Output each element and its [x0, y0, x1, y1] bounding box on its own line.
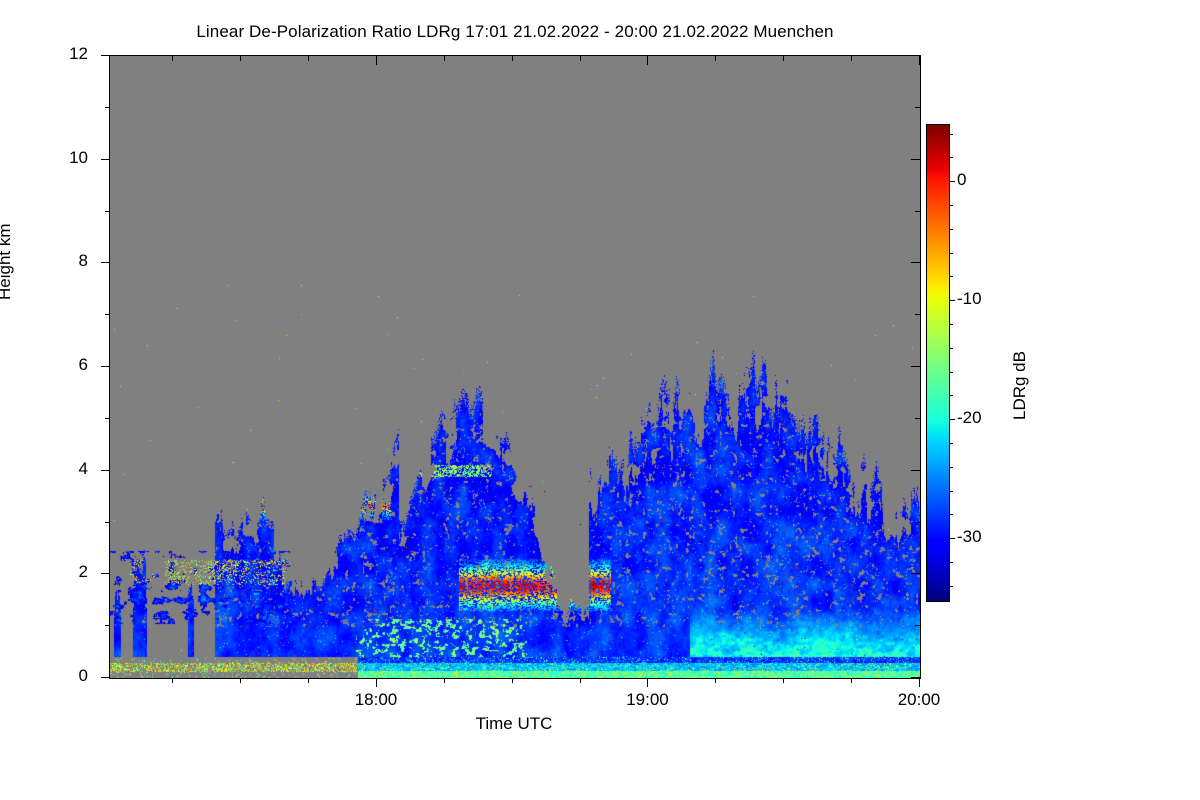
x-tick-major: [919, 678, 920, 687]
colorbar-tick-label: -20: [957, 408, 982, 428]
colorbar-tick-major: [949, 538, 955, 539]
y-tick-major: [101, 262, 110, 263]
y-tick-major-right: [911, 366, 920, 367]
colorbar-tick-minor: [949, 324, 953, 325]
colorbar-title: LDRg dB: [1010, 351, 1030, 420]
colorbar-tick-major: [949, 300, 955, 301]
y-tick-major-right: [911, 470, 920, 471]
y-tick-major: [101, 159, 110, 160]
x-tick-minor: [851, 678, 852, 683]
y-tick-label: 4: [28, 459, 88, 479]
y-tick-major-right: [911, 159, 920, 160]
x-tick-minor-top: [580, 56, 581, 61]
colorbar: [926, 124, 950, 602]
x-tick-label: 19:00: [587, 690, 707, 710]
x-tick-major-top: [647, 56, 648, 65]
colorbar-tick-label: -30: [957, 527, 982, 547]
x-tick-minor-top: [783, 56, 784, 61]
x-tick-major: [376, 678, 377, 687]
y-tick-minor-right: [915, 107, 920, 108]
x-tick-minor: [172, 678, 173, 683]
x-tick-minor-top: [851, 56, 852, 61]
colorbar-tick-minor: [949, 348, 953, 349]
colorbar-tick-minor: [949, 467, 953, 468]
x-tick-minor: [444, 678, 445, 683]
y-tick-major: [101, 573, 110, 574]
y-tick-label: 12: [28, 44, 88, 64]
y-axis-title: Height km: [0, 223, 15, 300]
y-tick-major: [101, 677, 110, 678]
x-tick-minor: [715, 678, 716, 683]
colorbar-tick-label: 0: [957, 170, 966, 190]
figure-root: Linear De-Polarization Ratio LDRg 17:01 …: [0, 0, 1200, 800]
y-tick-major: [101, 470, 110, 471]
y-tick-minor: [105, 107, 110, 108]
colorbar-tick-minor: [949, 276, 953, 277]
colorbar-tick-minor: [949, 443, 953, 444]
x-axis-title: Time UTC: [109, 714, 919, 734]
heatmap-canvas: [110, 56, 920, 678]
colorbar-tick-minor: [949, 562, 953, 563]
colorbar-tick-minor: [949, 157, 953, 158]
colorbar-tick-minor: [949, 229, 953, 230]
y-tick-minor: [105, 211, 110, 212]
y-tick-minor-right: [915, 314, 920, 315]
y-tick-label: 8: [28, 251, 88, 271]
y-tick-label: 10: [28, 148, 88, 168]
colorbar-gradient: [927, 125, 949, 601]
x-tick-minor-top: [512, 56, 513, 61]
colorbar-tick-major: [949, 181, 955, 182]
colorbar-tick-label: -10: [957, 289, 982, 309]
x-tick-minor: [308, 678, 309, 683]
colorbar-tick-minor: [949, 205, 953, 206]
y-tick-label: 2: [28, 562, 88, 582]
colorbar-tick-minor: [949, 514, 953, 515]
x-tick-minor-top: [308, 56, 309, 61]
y-tick-label: 0: [28, 666, 88, 686]
colorbar-tick-minor: [949, 586, 953, 587]
x-tick-label: 18:00: [316, 690, 436, 710]
x-tick-minor-top: [172, 56, 173, 61]
colorbar-tick-minor: [949, 395, 953, 396]
x-tick-minor: [580, 678, 581, 683]
figure-title: Linear De-Polarization Ratio LDRg 17:01 …: [0, 22, 1030, 42]
y-tick-major-right: [911, 262, 920, 263]
y-tick-major: [101, 55, 110, 56]
y-tick-minor-right: [915, 418, 920, 419]
y-tick-minor: [105, 314, 110, 315]
x-tick-minor: [240, 678, 241, 683]
colorbar-tick-minor: [949, 134, 953, 135]
x-tick-minor: [512, 678, 513, 683]
colorbar-tick-minor: [949, 372, 953, 373]
x-tick-minor-top: [240, 56, 241, 61]
y-tick-label: 6: [28, 355, 88, 375]
x-tick-major-top: [376, 56, 377, 65]
x-tick-minor-top: [715, 56, 716, 61]
y-tick-minor-right: [915, 625, 920, 626]
x-tick-label: 20:00: [859, 690, 979, 710]
colorbar-tick-major: [949, 419, 955, 420]
y-tick-major-right: [911, 573, 920, 574]
colorbar-tick-minor: [949, 253, 953, 254]
y-tick-minor-right: [915, 522, 920, 523]
y-tick-minor: [105, 625, 110, 626]
y-tick-major: [101, 366, 110, 367]
plot-area: [109, 55, 921, 679]
x-tick-minor: [783, 678, 784, 683]
colorbar-tick-minor: [949, 491, 953, 492]
x-tick-major-top: [919, 56, 920, 65]
x-tick-minor-top: [444, 56, 445, 61]
x-tick-major: [647, 678, 648, 687]
y-tick-minor: [105, 522, 110, 523]
y-tick-minor-right: [915, 211, 920, 212]
y-tick-minor: [105, 418, 110, 419]
